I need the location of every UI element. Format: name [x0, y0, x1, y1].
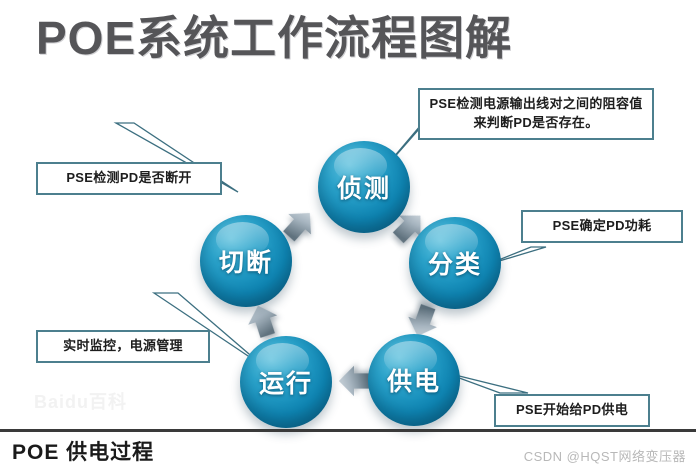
node-power-supply[interactable]: 供电: [368, 334, 460, 426]
callout-classify: PSE确定PD功耗: [521, 210, 683, 243]
footer-caption: POE 供电过程: [12, 436, 154, 466]
csdn-watermark: CSDN @HQST网络变压器: [524, 446, 686, 465]
footer-divider: [0, 429, 696, 432]
node-classify[interactable]: 分类: [409, 217, 501, 309]
callout-detect: PSE检测电源输出线对之间的阻容值来判断PD是否存在。: [418, 88, 654, 140]
callout-power-supply: PSE开始给PD供电: [494, 394, 650, 427]
baidu-watermark: Baidu百科: [34, 388, 127, 414]
node-run[interactable]: 运行: [240, 336, 332, 428]
callout-run: 实时监控，电源管理: [36, 330, 210, 363]
node-cutoff-label: 切断: [219, 243, 273, 279]
node-detect-label: 侦测: [337, 169, 391, 205]
diagram-page: POE系统工作流程图解: [0, 0, 696, 469]
node-cutoff[interactable]: 切断: [200, 215, 292, 307]
poe-flow-diagram: 侦测 分类 供电 运行 切断 PSE检测电源输出线对之间的阻容值来判断PD是否存…: [0, 62, 696, 430]
node-detect[interactable]: 侦测: [318, 141, 410, 233]
node-power-supply-label: 供电: [387, 362, 441, 398]
node-classify-label: 分类: [428, 245, 482, 281]
callout-cutoff: PSE检测PD是否断开: [36, 162, 222, 195]
page-title: POE系统工作流程图解: [36, 2, 512, 68]
node-run-label: 运行: [259, 364, 313, 400]
